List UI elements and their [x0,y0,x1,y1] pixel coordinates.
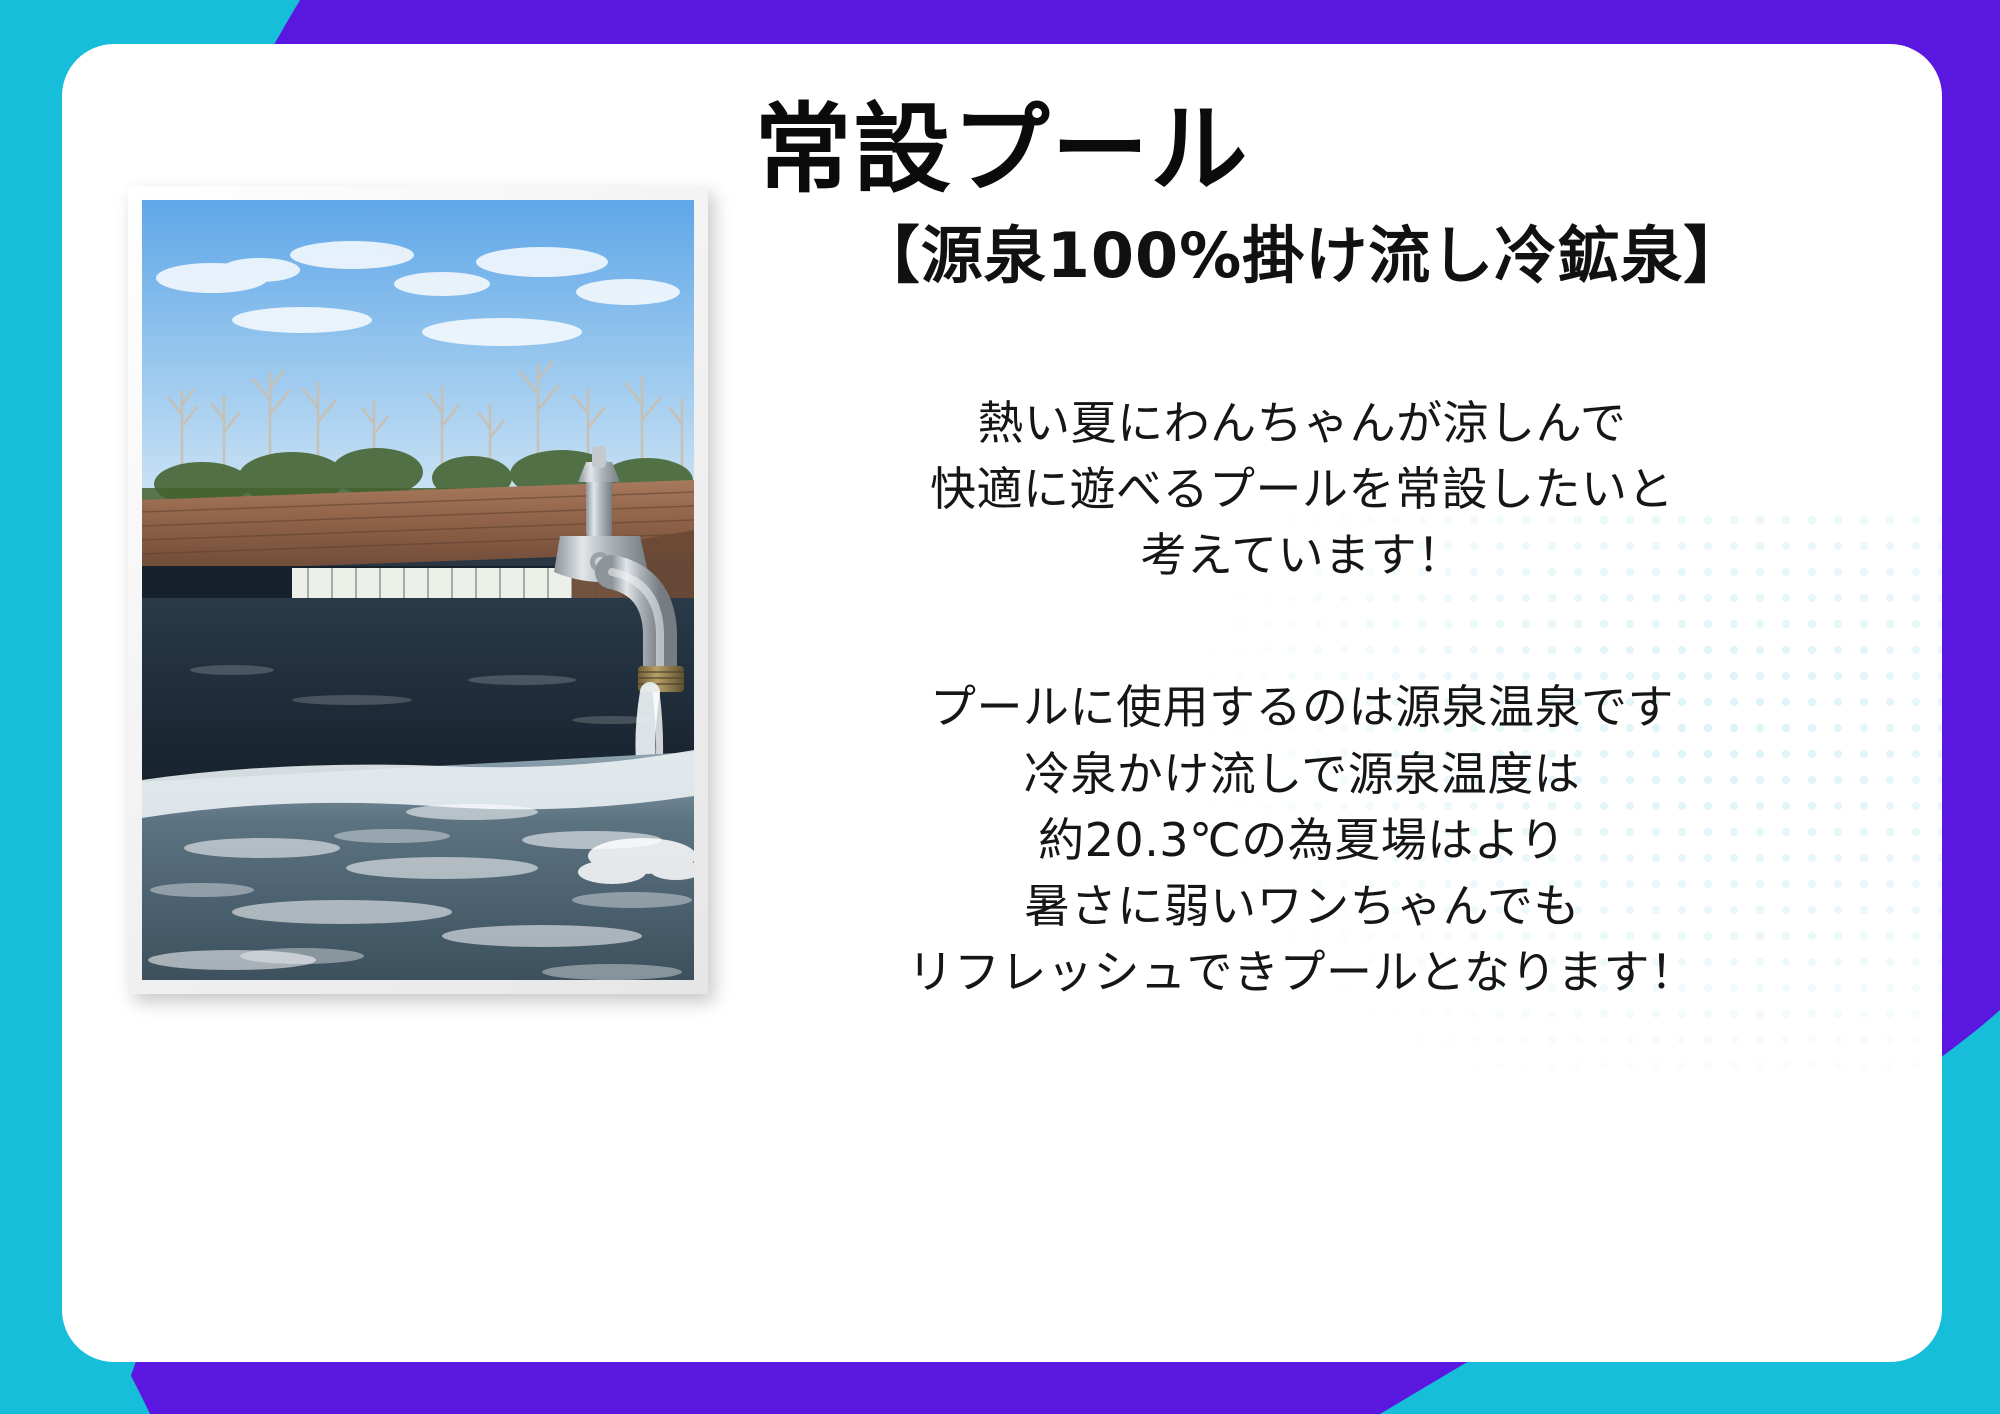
photo-frame [128,186,708,994]
paragraph-line: リフレッシュできプールとなります！ [722,939,1882,1005]
poster-card: 常設プール [62,44,1942,1362]
pool-faucet-photo-illustration [142,200,694,980]
paragraph-details: プールに使用するのは源泉温泉です 冷泉かけ流しで源泉温度は 約20.3℃の為夏場… [722,674,1882,1005]
photo-image [142,200,694,980]
paragraph-line: 冷泉かけ流しで源泉温度は [722,741,1882,807]
paragraph-line: プールに使用するのは源泉温泉です [722,674,1882,740]
paragraph-line: 熱い夏にわんちゃんが涼しんで [722,390,1882,456]
paragraph-line: 約20.3℃の為夏場はより [722,807,1882,873]
paragraph-intro: 熱い夏にわんちゃんが涼しんで 快適に遊べるプールを常設したいと 考えています！ [722,390,1882,589]
paragraph-line: 考えています！ [722,522,1882,588]
paragraph-line: 暑さに弱いワンちゃんでも [722,873,1882,939]
text-column: 【源泉100%掛け流し冷鉱泉】 熱い夏にわんちゃんが涼しんで 快適に遊べるプール… [722,194,1882,1006]
subtitle-heading: 【源泉100%掛け流し冷鉱泉】 [722,218,1882,294]
paragraph-line: 快適に遊べるプールを常設したいと [722,456,1882,522]
